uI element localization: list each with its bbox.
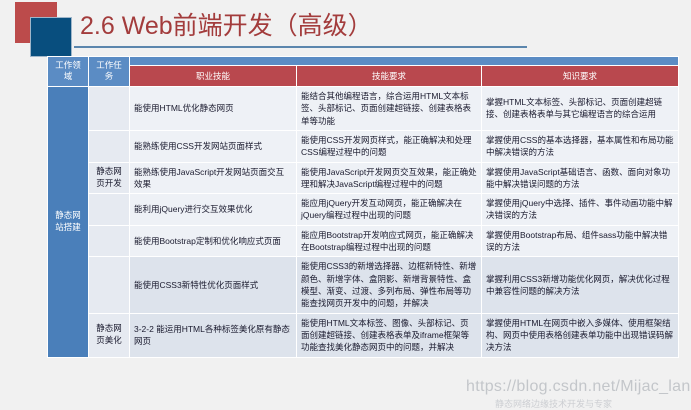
cell-skill-requirement: 能应用jQuery开发互动网页，能正确解决在jQuery编程过程中出现的问题 [297, 194, 482, 226]
cell-work-domain: 静态网站搭建 [48, 86, 89, 357]
cell-knowledge-requirement: 掌握使用JavaScript基础语言、函数、面向对象功能中解决错误问题的方法 [482, 162, 679, 194]
column-header-work-domain: 工作领域 [48, 57, 89, 87]
table-row: 能使用Bootstrap定制和优化响应式页面 能应用Bootstrap开发响应式… [48, 225, 679, 257]
cell-knowledge-requirement: 掌握使用jQuery中选择、插件、事件动画功能中解决错误的方法 [482, 194, 679, 226]
column-header-knowledge-requirement: 知识要求 [482, 66, 679, 87]
table-row: 能利用jQuery进行交互效果优化 能应用jQuery开发互动网页，能正确解决在… [48, 194, 679, 226]
table-row: 静态网页美化 3-2-2 能运用HTML各种标签美化原有静态网页 能使用HTML… [48, 313, 679, 357]
cell-professional-skill: 能使用CSS3新特性优化页面样式 [130, 257, 297, 313]
cell-work-task-spacer-4 [89, 194, 130, 226]
cell-knowledge-requirement: 掌握HTML文本标签、头部标记、页面创建超链接、创建表格表单与其它编程语言的综合… [482, 86, 679, 130]
cell-work-task-spacer-2 [89, 130, 130, 162]
cell-work-task-static-beautify: 静态网页美化 [89, 313, 130, 357]
decorative-blue-square [30, 17, 72, 57]
cell-knowledge-requirement: 掌握使用HTML在网页中嵌入多媒体、使用框架结构、网页中使用表格创建表单功能中出… [482, 313, 679, 357]
table-row: 静态网站搭建 能使用HTML优化静态网页 能结合其他编程语言，综合运用HTML文… [48, 86, 679, 130]
cell-work-task-static-dev: 静态网页开发 [89, 162, 130, 194]
watermark-text: https://blog.csdn.net/Mijac_lan [466, 378, 691, 396]
cell-knowledge-requirement: 掌握使用Bootstrap布局、组件sass功能中解决错误的方法 [482, 225, 679, 257]
page-title: 2.6 Web前端开发（高级） [80, 6, 373, 42]
cell-professional-skill: 能熟练使用JavaScript开发网站页面交互效果 [130, 162, 297, 194]
cell-skill-requirement: 能使用CSS3的新增选择器、边框新特性、新增颜色、新增字体、盒阴影、新增背景特性… [297, 257, 482, 313]
skills-matrix-table: 工作领域 工作任务 职业技能 技能要求 知识要求 静态网站搭建 能使用HTML优… [47, 56, 679, 358]
table-header-row-top: 工作领域 工作任务 [48, 57, 679, 66]
header-blue-spacer-bar [130, 57, 679, 66]
cell-professional-skill: 能熟练使用CSS开发网站页面样式 [130, 130, 297, 162]
cell-professional-skill: 能使用HTML优化静态网页 [130, 86, 297, 130]
cell-knowledge-requirement: 掌握使用CSS的基本选择器，基本属性和布局功能中解决错误的方法 [482, 130, 679, 162]
cell-professional-skill: 3-2-2 能运用HTML各种标签美化原有静态网页 [130, 313, 297, 357]
cell-skill-requirement: 能应用Bootstrap开发响应式网页，能正确解决在Bootstrap编程过程中… [297, 225, 482, 257]
title-underline [74, 46, 527, 48]
table-header-row-bottom: 职业技能 技能要求 知识要求 [48, 66, 679, 87]
slide-header: 2.6 Web前端开发（高级） [0, 0, 691, 52]
cell-knowledge-requirement: 掌握利用CSS3新增功能优化网页，解决优化过程中兼容性问题的解决方法 [482, 257, 679, 313]
cell-work-task-spacer-5 [89, 225, 130, 257]
table-row: 静态网页开发 能熟练使用JavaScript开发网站页面交互效果 能使用Java… [48, 162, 679, 194]
cell-skill-requirement: 能使用HTML文本标签、图像、头部标记、页面创建超链接、创建表格表单及ifram… [297, 313, 482, 357]
table-row: 能使用CSS3新特性优化页面样式 能使用CSS3的新增选择器、边框新特性、新增颜… [48, 257, 679, 313]
column-header-skill-requirement: 技能要求 [297, 66, 482, 87]
column-header-professional-skill: 职业技能 [130, 66, 297, 87]
cell-skill-requirement: 能使用CSS开发网页样式，能正确解决和处理CSS编程过程中的问题 [297, 130, 482, 162]
cell-professional-skill: 能利用jQuery进行交互效果优化 [130, 194, 297, 226]
cell-work-task-spacer-6 [89, 257, 130, 313]
watermark-subtext: 静态网络边缘技术开发与专家 [495, 397, 612, 410]
cell-work-task-spacer-top [89, 86, 130, 130]
cell-professional-skill: 能使用Bootstrap定制和优化响应式页面 [130, 225, 297, 257]
cell-skill-requirement: 能结合其他编程语言，综合运用HTML文本标签、头部标记、页面创建超链接、创建表格… [297, 86, 482, 130]
cell-skill-requirement: 能使用JavaScript开发网页交互效果，能正确处理和解决JavaScript… [297, 162, 482, 194]
table-row: 能熟练使用CSS开发网站页面样式 能使用CSS开发网页样式，能正确解决和处理CS… [48, 130, 679, 162]
column-header-work-task: 工作任务 [89, 57, 130, 87]
